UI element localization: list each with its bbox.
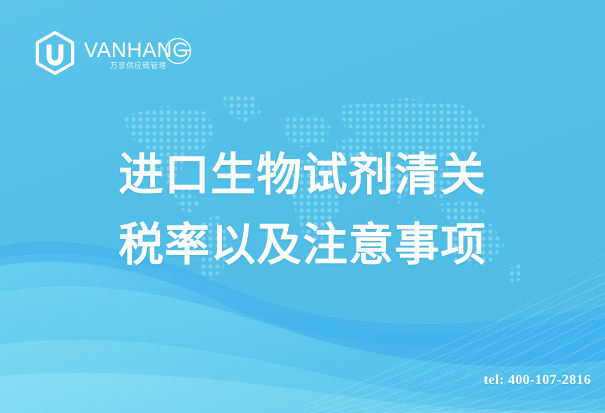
wordmark-text: VANHANG [84,39,189,62]
brand-logo[interactable]: VANHANG 万享供应链管理 [34,30,196,76]
wordmark-subtext: 万享供应链管理 [110,60,167,70]
hexagon-u-mark-icon [34,31,76,75]
wordmark-graphic: VANHANG 万享供应链管理 [84,31,196,75]
headline-line-2: 税率以及注意事项 [0,210,605,280]
contact-telephone: tel: 400-107-2816 [484,373,591,389]
brand-wordmark: VANHANG 万享供应链管理 [84,31,196,75]
headline-line-1: 进口生物试剂清关 [0,140,605,210]
page-title: 进口生物试剂清关 税率以及注意事项 [0,140,605,280]
promo-banner: VANHANG 万享供应链管理 进口生物试剂清关 税率以及注意事项 tel: 4… [0,0,605,413]
